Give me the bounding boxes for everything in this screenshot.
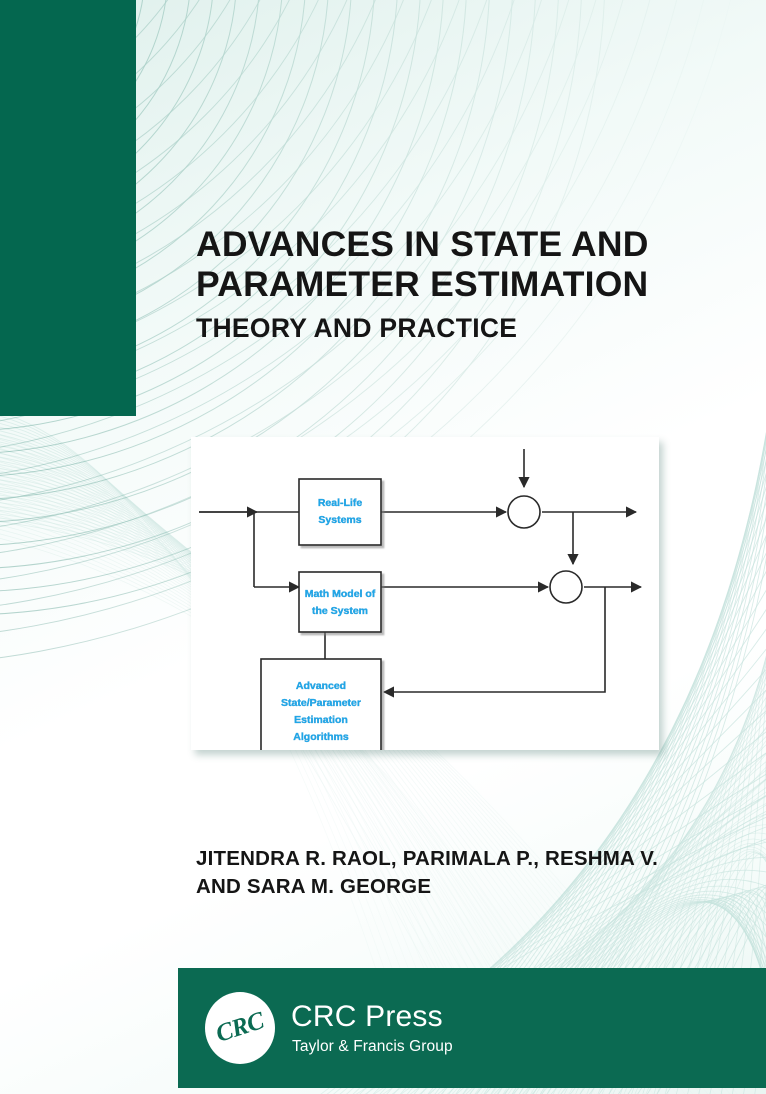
diagram-panel: Real-Life Systems Math Model of the Syst… [191,437,659,750]
box-label-math-model-2: the System [312,605,368,617]
green-accent-panel [0,0,136,416]
residual-feedback-line [384,587,605,692]
box-label-estimation-4: Algorithms [293,731,349,743]
box-math-model [299,572,381,632]
box-label-math-model-1: Math Model of [305,588,376,600]
authors-line-2: AND SARA M. GEORGE [196,873,666,901]
title-block: ADVANCES IN STATE AND PARAMETER ESTIMATI… [196,224,666,343]
box-label-estimation-1: Advanced [296,680,346,692]
summing-junction-top [508,496,540,528]
crc-logo-icon: CRC [205,992,275,1064]
publisher-bar: CRC CRC Press Taylor & Francis Group [178,968,766,1088]
title-line-2: PARAMETER ESTIMATION [196,264,666,304]
box-label-real-life-2: Systems [318,514,361,526]
book-cover: ADVANCES IN STATE AND PARAMETER ESTIMATI… [0,0,766,1094]
publisher-name: CRC Press [291,1000,443,1034]
box-label-estimation-3: Estimation [294,714,348,726]
publisher-imprint: Taylor & Francis Group [292,1038,453,1056]
block-diagram: Real-Life Systems Math Model of the Syst… [191,437,659,750]
subtitle: THEORY AND PRACTICE [196,313,666,343]
box-label-estimation-2: State/Parameter [281,697,361,709]
summing-junction-bottom [550,571,582,603]
box-real-life-systems [299,479,381,545]
crc-logo-text: CRC [196,983,285,1073]
authors-block: JITENDRA R. RAOL, PARIMALA P., RESHMA V.… [196,845,666,901]
authors-line-1: JITENDRA R. RAOL, PARIMALA P., RESHMA V. [196,845,666,873]
title-line-1: ADVANCES IN STATE AND [196,224,666,264]
box-label-real-life-1: Real-Life [318,497,363,509]
